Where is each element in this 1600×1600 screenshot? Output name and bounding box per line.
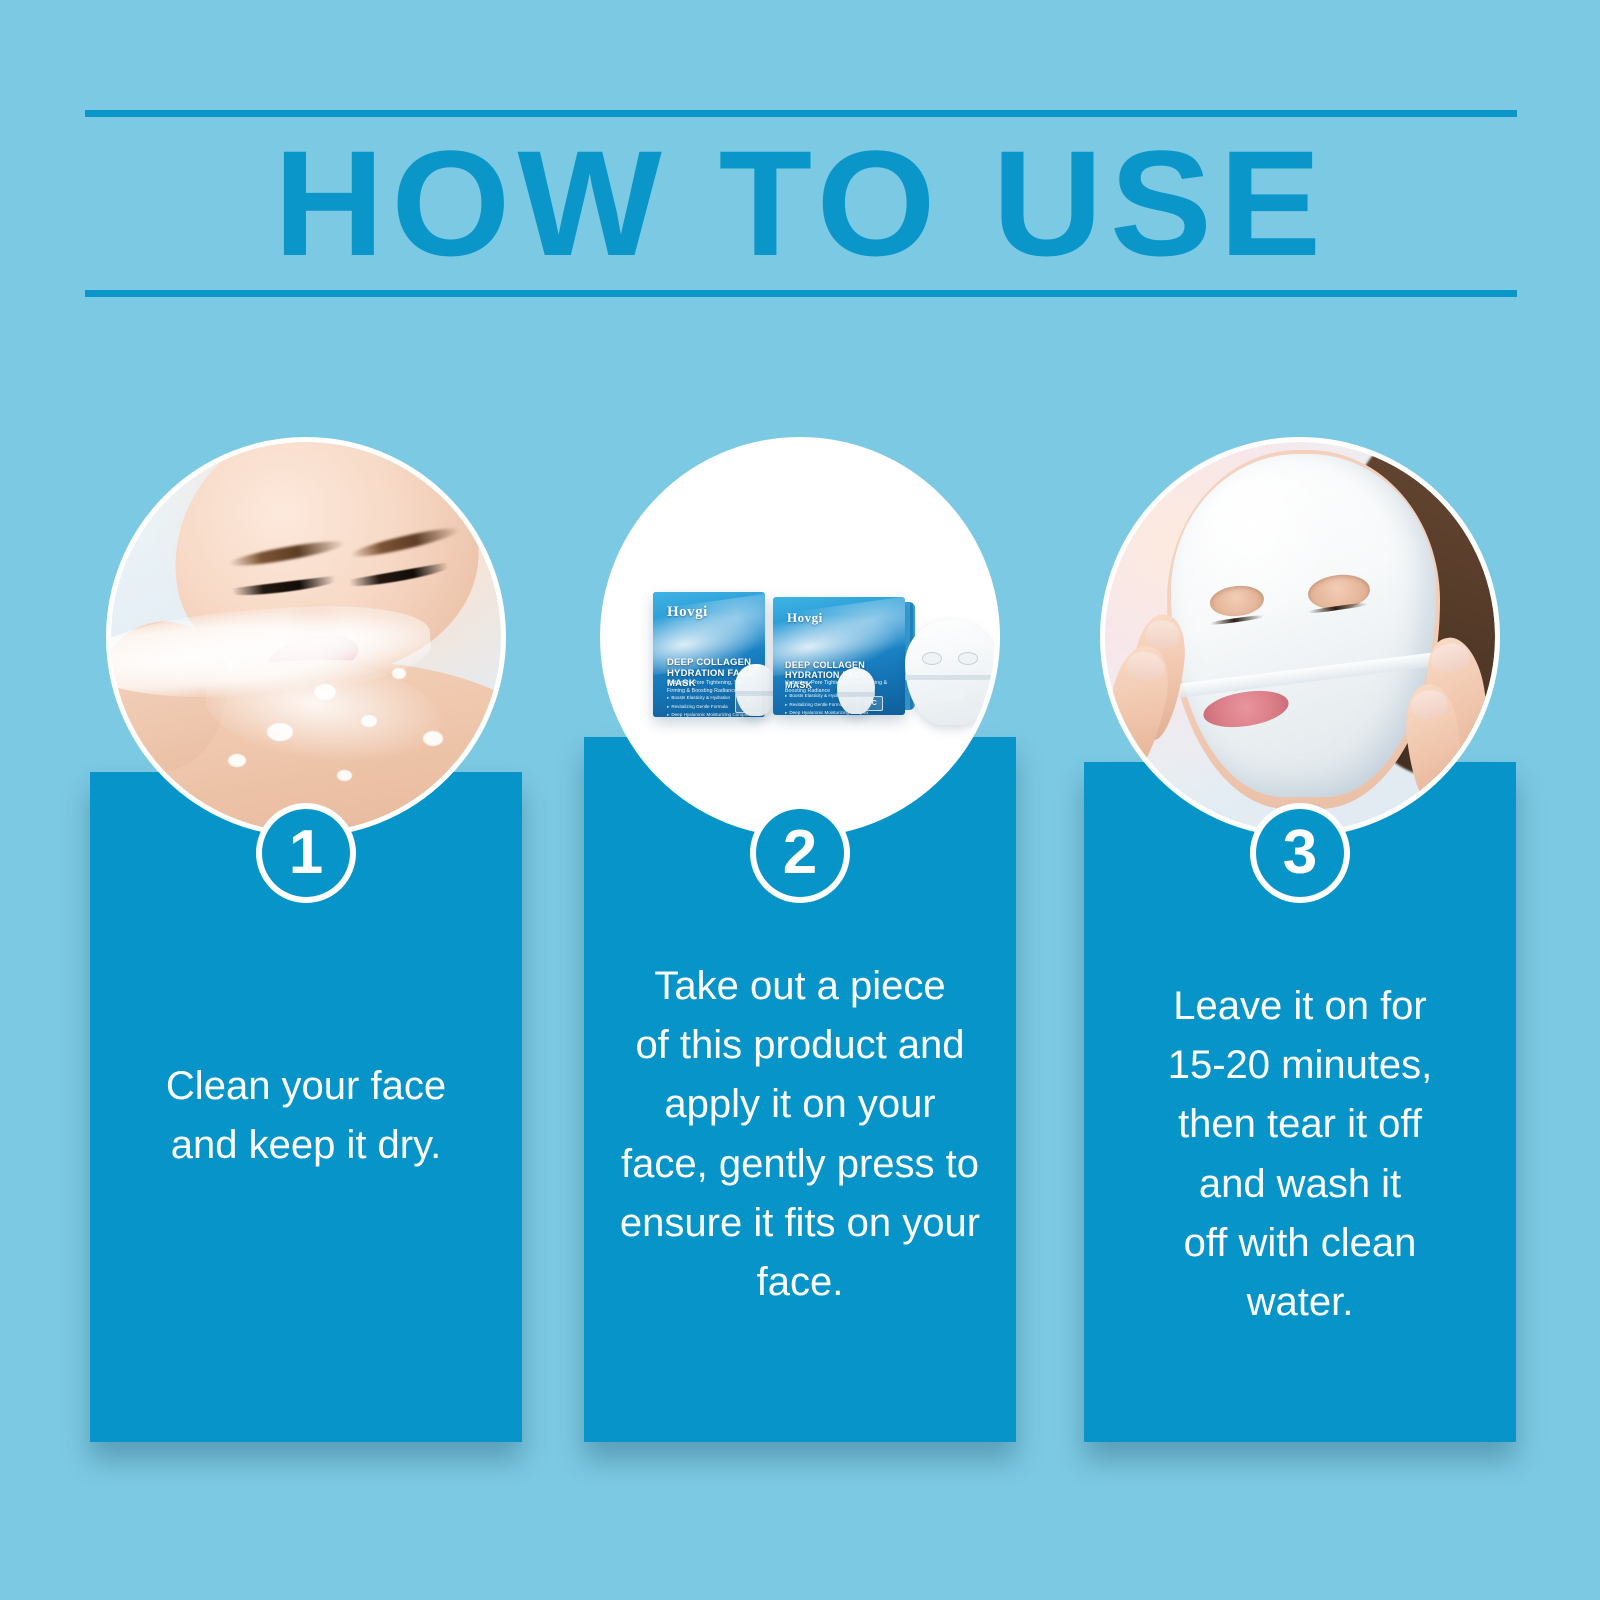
step-caption-2: Take out a piece of this product and app… [598,957,1002,1312]
step-caption-3: Leave it on for 15-20 minutes, then tear… [1098,977,1502,1332]
mask-slit [837,692,875,697]
fingernail [1144,618,1183,651]
mask-eye-hole-left [922,652,942,665]
step-card-2: Hovgi DEEP COLLAGEN HYDRATION FACE MASK … [582,437,1018,1442]
water-droplet [314,684,336,700]
step-number-badge-1: 1 [256,803,356,903]
mask-sheet-icon [837,668,875,714]
product-brand-box: Hovgi [667,604,708,621]
steps-row: 1 Clean your face and keep it dry. Hovgi… [0,0,1600,1600]
step-caption-1: Clean your face and keep it dry. [104,1057,508,1175]
step-card-1: 1 Clean your face and keep it dry. [88,437,524,1442]
mask-sheet-icon [735,664,777,716]
step-photo-3 [1100,437,1500,837]
step-number-badge-2: 2 [750,803,850,903]
step-photo-2: Hovgi DEEP COLLAGEN HYDRATION FACE MASK … [600,437,1000,837]
splash-photo-icon [111,442,501,832]
mask-slit [905,675,995,680]
step-number-badge-3: 3 [1250,803,1350,903]
product-brand-sachet: Hovgi [787,610,823,626]
mask-slit [735,691,777,696]
step-card-3: 3 Leave it on for 15-20 minutes, then te… [1082,437,1518,1442]
product-photo-icon: Hovgi DEEP COLLAGEN HYDRATION FACE MASK … [605,442,995,832]
mask-mouth-hole [932,686,966,701]
mask-eye-hole-right [958,652,978,665]
mask-sheet-hero-icon [905,620,995,725]
fingernail [1124,648,1167,683]
fingernail [1429,641,1472,675]
water-droplet [423,731,443,746]
product-bullet: Deep Hyaluronic Moisturizing Complex [667,711,753,720]
water-droplet [337,770,352,781]
infographic-page: HOW TO USE [0,0,1600,1600]
water-droplet [228,754,246,767]
water-droplet [267,723,293,741]
fingernail [1410,688,1449,720]
water-droplet [361,715,377,727]
water-droplet [392,668,406,679]
wearing-mask-photo-icon [1105,442,1495,832]
step-photo-1 [106,437,506,837]
